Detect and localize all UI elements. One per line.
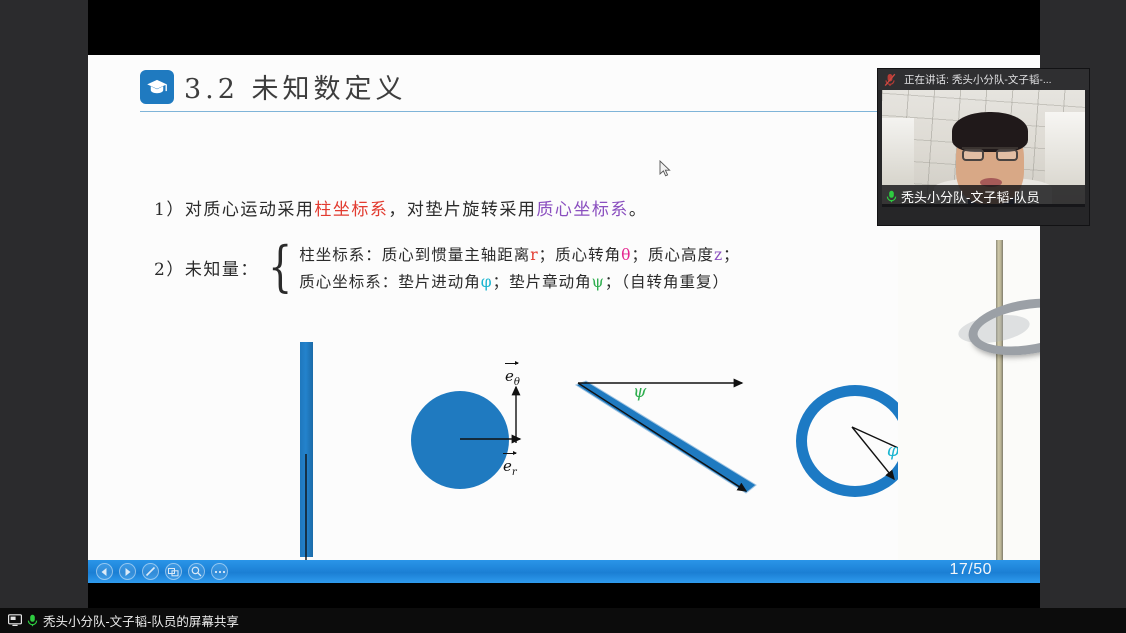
- figure-washer-photo: [898, 240, 1040, 560]
- bullet1-red-term: 柱坐标系: [314, 200, 388, 220]
- bullet1-purple-term: 质心坐标系: [536, 200, 629, 220]
- row2-text-a: 质心坐标系：垫片进动角: [299, 273, 481, 291]
- bullet-line-2: 2）未知量： { 柱坐标系：质心到惯量主轴距离r；质心转角θ；质心高度z； 质心…: [154, 243, 740, 292]
- title-underline: [140, 111, 960, 112]
- figure-ez-arrow: [288, 450, 334, 560]
- mic-icon: [27, 614, 38, 627]
- var-r: r: [530, 246, 538, 264]
- label-e-theta: eθ: [505, 367, 520, 388]
- speaking-label: 正在讲话: 秃头小分队-文子韬-...: [904, 72, 1052, 87]
- bullet1-suffix: 。: [629, 200, 648, 220]
- screen-share-label: 秃头小分队-文子韬-队员的屏幕共享: [43, 611, 239, 630]
- next-arrow-icon[interactable]: [119, 563, 136, 580]
- bullet1-middle: ，对垫片旋转采用: [388, 200, 536, 220]
- muted-mic-icon: [884, 73, 896, 87]
- row1-text-a: 柱坐标系：质心到惯量主轴距离: [299, 246, 530, 264]
- bullet1-prefix: 1）对质心运动采用: [154, 200, 314, 220]
- screen-share-status-bar: 秃头小分队-文子韬-队员的屏幕共享: [0, 608, 1126, 633]
- slide-title-row: 3.2 未知数定义: [140, 67, 407, 106]
- participant-name: 秃头小分队-文子韬-队员: [901, 187, 1040, 206]
- brace-row-2: 质心坐标系：垫片进动角φ；垫片章动角ψ；（自转角重复）: [299, 270, 740, 292]
- var-theta: θ: [621, 246, 631, 264]
- var-phi: φ: [481, 273, 493, 291]
- brace-row-1: 柱坐标系：质心到惯量主轴距离r；质心转角θ；质心高度z；: [299, 243, 740, 265]
- var-psi: ψ: [592, 273, 605, 291]
- angle-label-psi: ψ: [633, 382, 646, 402]
- row2-text-b: ；垫片章动角: [493, 273, 592, 291]
- person-hair: [952, 112, 1028, 152]
- pen-icon[interactable]: [142, 563, 159, 580]
- row1-text-b: ；质心转角: [539, 246, 622, 264]
- row1-text-d: ；: [723, 246, 740, 264]
- figure-tilted-bar: [560, 373, 770, 501]
- powerpoint-presenter-toolbar[interactable]: 17/50: [88, 560, 1040, 583]
- photo-rod: [996, 240, 1003, 560]
- figure-unit-vectors: [458, 377, 538, 457]
- monitor-icon: [8, 614, 22, 627]
- more-options-icon[interactable]: [211, 563, 228, 580]
- curly-brace: {: [268, 245, 292, 289]
- speaking-status-bar: 正在讲话: 秃头小分队-文子韬-...: [878, 69, 1089, 90]
- glasses-right-lens: [996, 149, 1018, 161]
- meeting-screen-share-window: 3.2 未知数定义 1）对质心运动采用柱坐标系，对垫片旋转采用质心坐标系。 2）…: [0, 0, 1126, 633]
- bullet2-label: 2）未知量：: [154, 255, 259, 280]
- row1-text-c: ；质心高度: [631, 246, 714, 264]
- row2-text-c: ；（自转角重复）: [605, 273, 729, 291]
- slide-page-indicator: 17/50: [949, 561, 992, 579]
- toolbar-icon-group: [96, 563, 228, 580]
- mic-icon: [886, 190, 897, 203]
- graduation-cap-icon: [140, 70, 174, 104]
- participant-name-overlay: 秃头小分队-文子韬-队员: [882, 185, 1085, 207]
- glasses-left-lens: [962, 149, 984, 161]
- participant-video-panel[interactable]: 正在讲话: 秃头小分队-文子韬-... 秃头小分队-文子韬-队员: [877, 68, 1090, 226]
- mouse-cursor: [659, 160, 671, 178]
- prev-arrow-icon[interactable]: [96, 563, 113, 580]
- label-e-r: er: [503, 457, 517, 478]
- brace-content: 柱坐标系：质心到惯量主轴距离r；质心转角θ；质心高度z； 质心坐标系：垫片进动角…: [299, 243, 740, 292]
- magnifier-icon[interactable]: [188, 563, 205, 580]
- slide-grid-icon[interactable]: [165, 563, 182, 580]
- var-z: z: [714, 246, 723, 264]
- bullet-line-1: 1）对质心运动采用柱坐标系，对垫片旋转采用质心坐标系。: [154, 195, 647, 220]
- person-glasses: [962, 147, 1018, 159]
- page-title: 3.2 未知数定义: [184, 67, 407, 106]
